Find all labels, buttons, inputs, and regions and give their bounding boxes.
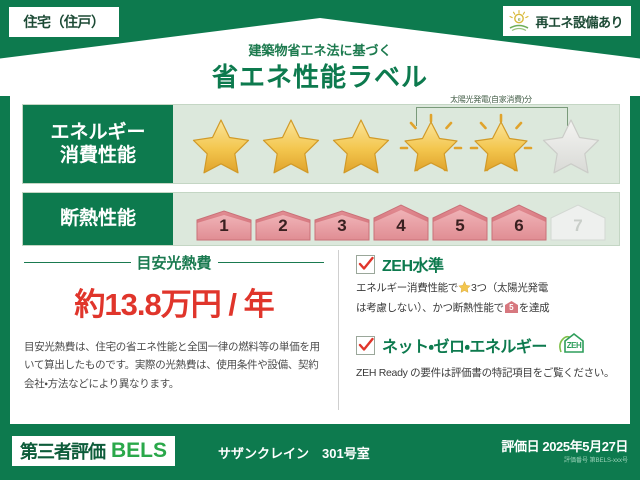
renewable-equipment-badge: e 再エネ設備あり <box>502 5 632 37</box>
zeh-standard-title-row: ZEH水準 <box>356 252 624 276</box>
insulation-house-6: 6 <box>490 204 548 242</box>
insulation-performance-caption: 断熱性能 <box>23 193 173 245</box>
cost-rule-right <box>218 262 325 263</box>
zeh-net-zero-label: ネット・ゼロ・エネルギー <box>382 333 547 357</box>
zeh-net-zero-title-row: ネット・ゼロ・エネルギー ZEH <box>356 330 624 361</box>
zeh-section: ZEH水準 エネルギー消費性能で3つ（太陽光発電は考慮しない）、かつ断熱性能で5… <box>356 252 624 412</box>
cost-rule-left <box>24 262 131 263</box>
zeh-standard-description: エネルギー消費性能で3つ（太陽光発電は考慮しない）、かつ断熱性能で5を達成 <box>356 280 624 318</box>
zeh-desc-star-count: 3つ（太陽光発電 <box>471 282 548 294</box>
building-type-label: 住宅（住戸） <box>24 12 105 32</box>
zeh-logo-text: ZEH <box>567 341 582 350</box>
insulation-house-2: 2 <box>254 210 312 242</box>
insulation-house-4-number: 4 <box>372 216 430 236</box>
utility-cost-heading: 目安光熱費 <box>24 252 324 273</box>
page-title: 省エネ性能ラベル <box>0 57 640 94</box>
bels-jp-label: 第三者評価 <box>20 438 105 464</box>
bels-logo: 第三者評価 BELS <box>12 436 175 466</box>
insulation-house-5-number: 5 <box>431 216 489 236</box>
insulation-level-scale: 1 2 3 <box>173 190 619 248</box>
zeh-desc-part-3: を達成 <box>519 302 550 314</box>
cost-heading-label: 目安光熱費 <box>137 252 212 273</box>
zeh-logo-icon: ZEH <box>556 330 590 361</box>
building-name: サザンクレイン 301号室 <box>218 443 370 462</box>
bels-en-label: BELS <box>111 439 167 463</box>
insulation-house-7-number: 7 <box>549 216 607 236</box>
zeh-net-zero-block: ネット・ゼロ・エネルギー ZEH ZEH Ready の要件は評価書の特記項目を… <box>356 330 624 383</box>
zeh-desc-part-2: は考慮しない）、かつ断熱性能で <box>356 302 504 314</box>
insulation-house-4: 4 <box>372 204 430 242</box>
insulation-performance-row: 断熱性能 <box>22 192 620 246</box>
inline-house-badge-icon: 5 <box>504 300 519 314</box>
zeh-net-zero-description: ZEH Ready の要件は評価書の特記項目をご覧ください。 <box>356 365 624 383</box>
star-2 <box>257 110 325 178</box>
solar-portion-note: 太陽光発電(自家消費)分 <box>416 94 566 105</box>
energy-caption-line-1: エネルギー <box>50 121 145 144</box>
energy-star-rating: 太陽光発電(自家消費)分 <box>173 105 619 183</box>
label-body-card: エネルギー 消費性能 太陽光発電(自家消費)分 <box>10 92 630 424</box>
star-3 <box>327 110 395 178</box>
check-icon <box>356 255 375 274</box>
insulation-house-5: 5 <box>431 204 489 242</box>
insulation-house-6-number: 6 <box>490 216 548 236</box>
zeh-standard-block: ZEH水準 エネルギー消費性能で3つ（太陽光発電は考慮しない）、かつ断熱性能で5… <box>356 252 624 318</box>
inline-star-icon <box>458 280 471 300</box>
evaluation-date: 評価日 2025年5月27日 <box>501 436 628 455</box>
star-4-solar <box>397 110 465 178</box>
utility-cost-section: 目安光熱費 約13.8万円 / 年 目安光熱費は、住宅の省エネ性能と全国一律の燃… <box>24 252 324 412</box>
insulation-house-2-number: 2 <box>254 216 312 236</box>
insulation-house-1-number: 1 <box>195 216 253 236</box>
insulation-house-7-empty: 7 <box>549 204 607 242</box>
utility-cost-value: 約13.8万円 / 年 <box>24 279 324 324</box>
star-1 <box>187 110 255 178</box>
utility-cost-disclaimer: 目安光熱費は、住宅の省エネ性能と全国一律の燃料等の単価を用いて算出したものです。… <box>24 338 324 393</box>
insulation-house-3-number: 3 <box>313 216 371 236</box>
energy-performance-row: エネルギー 消費性能 太陽光発電(自家消費)分 <box>22 104 620 184</box>
star-5-solar <box>467 110 535 178</box>
check-icon <box>356 336 375 355</box>
building-type-badge: 住宅（住戸） <box>8 6 120 38</box>
renewable-badge-label: 再エネ設備あり <box>535 12 623 31</box>
star-6-empty <box>537 110 605 178</box>
energy-performance-label: 住宅（住戸） e 再エネ設備あり 建築物省エネ法に基づく 省エネ性能ラベル <box>0 0 640 480</box>
zeh-desc-part-1: エネルギー消費性能で <box>356 282 458 294</box>
section-divider <box>338 250 339 410</box>
insulation-caption-label: 断熱性能 <box>60 207 136 230</box>
insulation-house-1: 1 <box>195 210 253 242</box>
zeh-standard-label: ZEH水準 <box>382 252 444 276</box>
footer-bar: 第三者評価 BELS サザンクレイン 301号室 評価日 2025年5月27日 … <box>0 428 640 480</box>
energy-caption-line-2: 消費性能 <box>60 144 136 167</box>
insulation-house-3: 3 <box>313 210 371 242</box>
sun-icon: e <box>507 9 531 33</box>
inline-house-badge-number: 5 <box>504 300 519 314</box>
evaluation-code: 評価番号 第BELS-xxx号 <box>564 455 628 464</box>
energy-performance-caption: エネルギー 消費性能 <box>23 105 173 183</box>
